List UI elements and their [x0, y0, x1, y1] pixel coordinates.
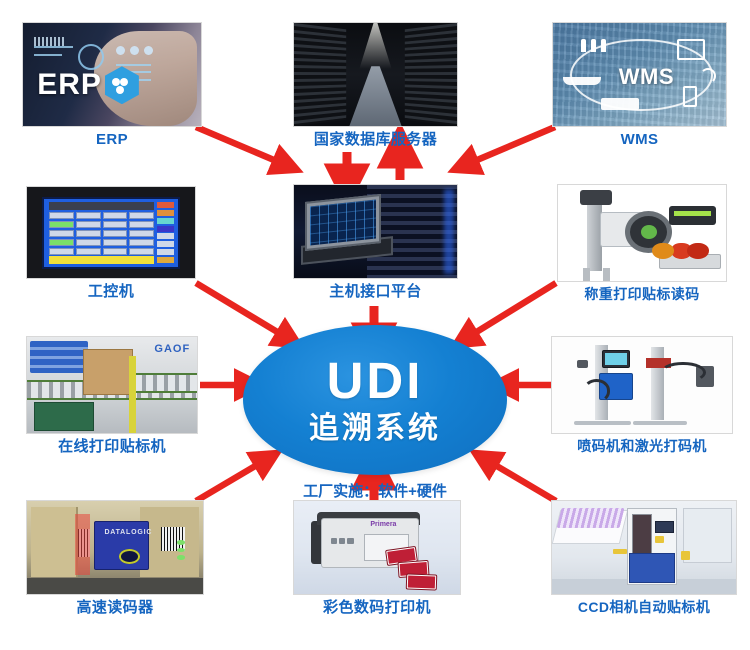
person-icon: [601, 39, 606, 52]
inkjet-base: [574, 421, 632, 426]
arrow-wms-to-db: [470, 127, 555, 163]
node-label-ipc: 工控机: [88, 284, 134, 301]
hud-dot: [116, 46, 125, 55]
machine-leg: [583, 268, 590, 281]
node-label-inline: 在线打印贴标机: [58, 439, 166, 456]
ceiling-light: [359, 23, 392, 69]
arrow-erp-to-db: [196, 127, 281, 163]
inkjet-laser-coder-photo: [552, 337, 732, 433]
hud-bar: [116, 64, 152, 66]
node-label-printer: 彩色数码打印机: [323, 600, 431, 617]
printer-button: [331, 538, 338, 544]
guard-post: [129, 356, 136, 433]
node-label-erp: ERP: [96, 132, 128, 149]
host-thumbnail: [293, 184, 458, 279]
server-laptop-console-photo: [294, 185, 457, 278]
inline-thumbnail: GAOF: [26, 336, 198, 434]
printed-label: [407, 575, 436, 590]
node-erp[interactable]: ERP ERP: [22, 22, 202, 149]
warning-sticker: [613, 549, 628, 554]
industrial-hmi-panel-photo: [27, 187, 195, 278]
node-inline[interactable]: GAOF 在线打印贴标机: [26, 336, 198, 456]
weigh-thumbnail: [557, 184, 727, 282]
sample-tubes: [557, 508, 625, 528]
truck-icon: [601, 98, 639, 109]
hub-title-cn: 追溯系统: [309, 413, 441, 445]
hud-dot: [130, 46, 139, 55]
scanner-brand: DATALOGIC: [104, 529, 152, 536]
cabinet-window: [632, 514, 652, 557]
produce-item: [687, 243, 709, 259]
produce-item: [652, 243, 674, 259]
arrow-weigh-to-hub: [470, 283, 556, 336]
scale-display: [669, 206, 716, 225]
printer-brand: Primera: [370, 521, 396, 528]
reader-thumbnail: DATALOGIC: [26, 500, 204, 595]
hmi-button-grid: [49, 212, 153, 255]
weigh-label-applicator-photo: [558, 185, 726, 281]
node-ipc[interactable]: 工控机: [26, 186, 196, 301]
server-rack-left: [294, 23, 346, 126]
ship-icon: [563, 77, 601, 85]
control-panel: [655, 521, 674, 532]
inkjet-printhead: [577, 360, 588, 368]
node-label-host: 主机接口平台: [329, 284, 421, 301]
node-reader[interactable]: DATALOGIC 高速读码器: [26, 500, 204, 617]
color-label-printer-photo: Primera: [294, 501, 460, 594]
data-center-aisle-photo: [294, 23, 457, 126]
ccd-thumbnail: [551, 500, 737, 595]
server-rack-right: [405, 23, 457, 126]
hud-dot: [144, 46, 153, 55]
brand-watermark: GAOF: [154, 343, 190, 355]
hud-bar: [34, 37, 66, 46]
node-label-wms: WMS: [621, 132, 659, 149]
warning-sticker: [655, 536, 664, 543]
ccd-auto-labeler-photo: [552, 501, 736, 594]
erp-dashboard-photo: ERP: [23, 23, 201, 126]
node-label-ccd: CCD相机自动贴标机: [578, 600, 710, 615]
arrow-ipc-to-hub: [196, 283, 284, 336]
diagram-canvas: ERP ERP 国家数据库服务器: [0, 0, 750, 650]
ink-hose: [583, 379, 611, 402]
erp-thumbnail: ERP: [22, 22, 202, 127]
monitor-icon: [677, 39, 705, 60]
labeling-unit: [34, 402, 94, 431]
coder-thumbnail: [551, 336, 733, 434]
scanner-lens: [119, 549, 140, 564]
printer-thumbnail: Primera: [293, 500, 461, 595]
node-label-reader: 高速读码器: [76, 600, 153, 617]
udi-hub[interactable]: UDI 追溯系统: [243, 325, 507, 475]
hmi-title-bar: [49, 202, 153, 209]
hmi-side-buttons: [157, 202, 174, 262]
node-db-server[interactable]: 国家数据库服务器: [293, 22, 458, 149]
person-icon: [581, 39, 586, 52]
aisle-floor: [349, 66, 401, 126]
node-ccd[interactable]: CCD相机自动贴标机: [551, 500, 737, 615]
hud-bar: [34, 54, 62, 56]
warehouse-management-photo: WMS: [553, 23, 726, 126]
hmi-status-strip: [49, 256, 153, 264]
cabinet-door: [629, 553, 675, 583]
console-display: [305, 194, 381, 251]
hud-ring: [78, 44, 104, 70]
inkjet-touchscreen: [602, 350, 629, 367]
blue-pallet: [30, 341, 88, 374]
node-label-weigh: 称重打印贴标读码: [584, 287, 699, 302]
phone-icon: [683, 86, 697, 107]
node-label-coder: 喷码机和激光打码机: [577, 439, 707, 454]
printer-button: [339, 538, 346, 544]
printer-button: [347, 538, 354, 544]
person-icon: [591, 39, 596, 52]
wms-wordmark: WMS: [619, 64, 674, 90]
status-led: [177, 540, 186, 545]
wms-thumbnail: WMS: [552, 22, 727, 127]
node-label-db-server: 国家数据库服务器: [314, 132, 437, 149]
node-coder[interactable]: 喷码机和激光打码机: [551, 336, 733, 454]
carton-left: [31, 507, 79, 578]
db-server-thumbnail: [293, 22, 458, 127]
erp-wordmark: ERP: [37, 68, 102, 102]
machine-leg: [603, 268, 610, 281]
carton-box: [83, 349, 133, 395]
ipc-thumbnail: [26, 186, 196, 279]
conveyor-print-apply-photo: GAOF: [27, 337, 197, 433]
hub-title-en: UDI: [327, 355, 424, 406]
node-wms[interactable]: WMS WMS: [552, 22, 727, 149]
fixed-barcode-scanner-photo: DATALOGIC: [27, 501, 203, 594]
blue-led-strip: [444, 189, 454, 275]
hub-subtitle: 工厂实施：软件+硬件: [243, 480, 507, 501]
warning-sticker: [681, 551, 690, 559]
conveyor-belt: [27, 578, 203, 594]
laser-hose: [660, 362, 706, 383]
laser-base: [633, 421, 687, 426]
chart-display: [310, 200, 376, 246]
node-host[interactable]: 主机接口平台: [293, 184, 458, 301]
print-head-housing: [580, 190, 612, 205]
node-weigh[interactable]: 称重打印贴标读码: [557, 184, 727, 302]
wifi-icon: [700, 68, 716, 84]
status-led: [177, 555, 186, 560]
scan-beam: [75, 514, 91, 575]
hmi-screen: [42, 197, 180, 269]
node-printer[interactable]: Primera 彩色数码打印机: [293, 500, 461, 617]
